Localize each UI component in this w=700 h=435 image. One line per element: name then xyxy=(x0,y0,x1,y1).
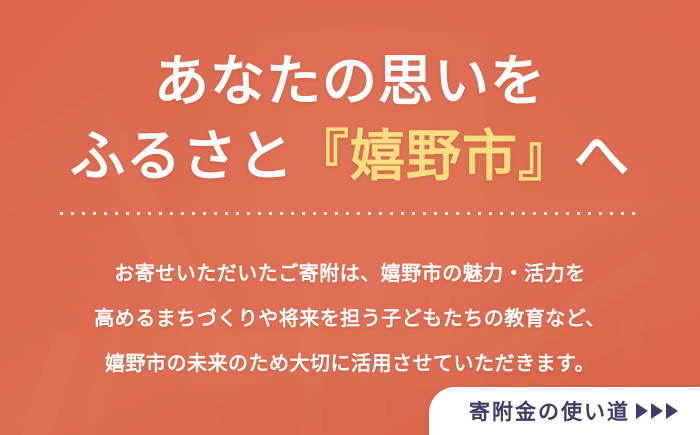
banner-content: あなたの思いを ふるさと『嬉野市』へ お寄せいただいたご寄附は、嬉野市の魅力・活… xyxy=(0,0,700,435)
body-line-3: 嬉野市の未来のため大切に活用させていただきます。 xyxy=(0,342,700,387)
headline-line-2-suffix: へ xyxy=(574,125,630,187)
dotted-divider xyxy=(60,212,640,215)
triangle-right-icon xyxy=(666,403,678,419)
body-line-2: 高めるまちづくりや将来を担う子どもたちの教育など、 xyxy=(0,297,700,342)
headline-line-2-prefix: ふるさと xyxy=(70,125,294,187)
banner-body-text: お寄せいただいたご寄附は、嬉野市の魅力・活力を 高めるまちづくりや将来を担う子ど… xyxy=(0,252,700,387)
donation-usage-button-label: 寄附金の使い道 xyxy=(469,396,630,426)
headline-line-2: ふるさと『嬉野市』へ xyxy=(0,119,700,194)
body-line-1: お寄せいただいたご寄附は、嬉野市の魅力・活力を xyxy=(0,252,700,297)
triangle-right-icon-group xyxy=(636,403,678,419)
triangle-right-icon xyxy=(651,403,663,419)
headline-city-name: 『嬉野市』 xyxy=(294,125,574,187)
banner-headline: あなたの思いを ふるさと『嬉野市』へ xyxy=(0,44,700,194)
donation-usage-button[interactable]: 寄附金の使い道 xyxy=(429,387,700,435)
triangle-right-icon xyxy=(636,403,648,419)
furusato-donation-banner: あなたの思いを ふるさと『嬉野市』へ お寄せいただいたご寄附は、嬉野市の魅力・活… xyxy=(0,0,700,435)
headline-line-1: あなたの思いを xyxy=(0,44,700,119)
